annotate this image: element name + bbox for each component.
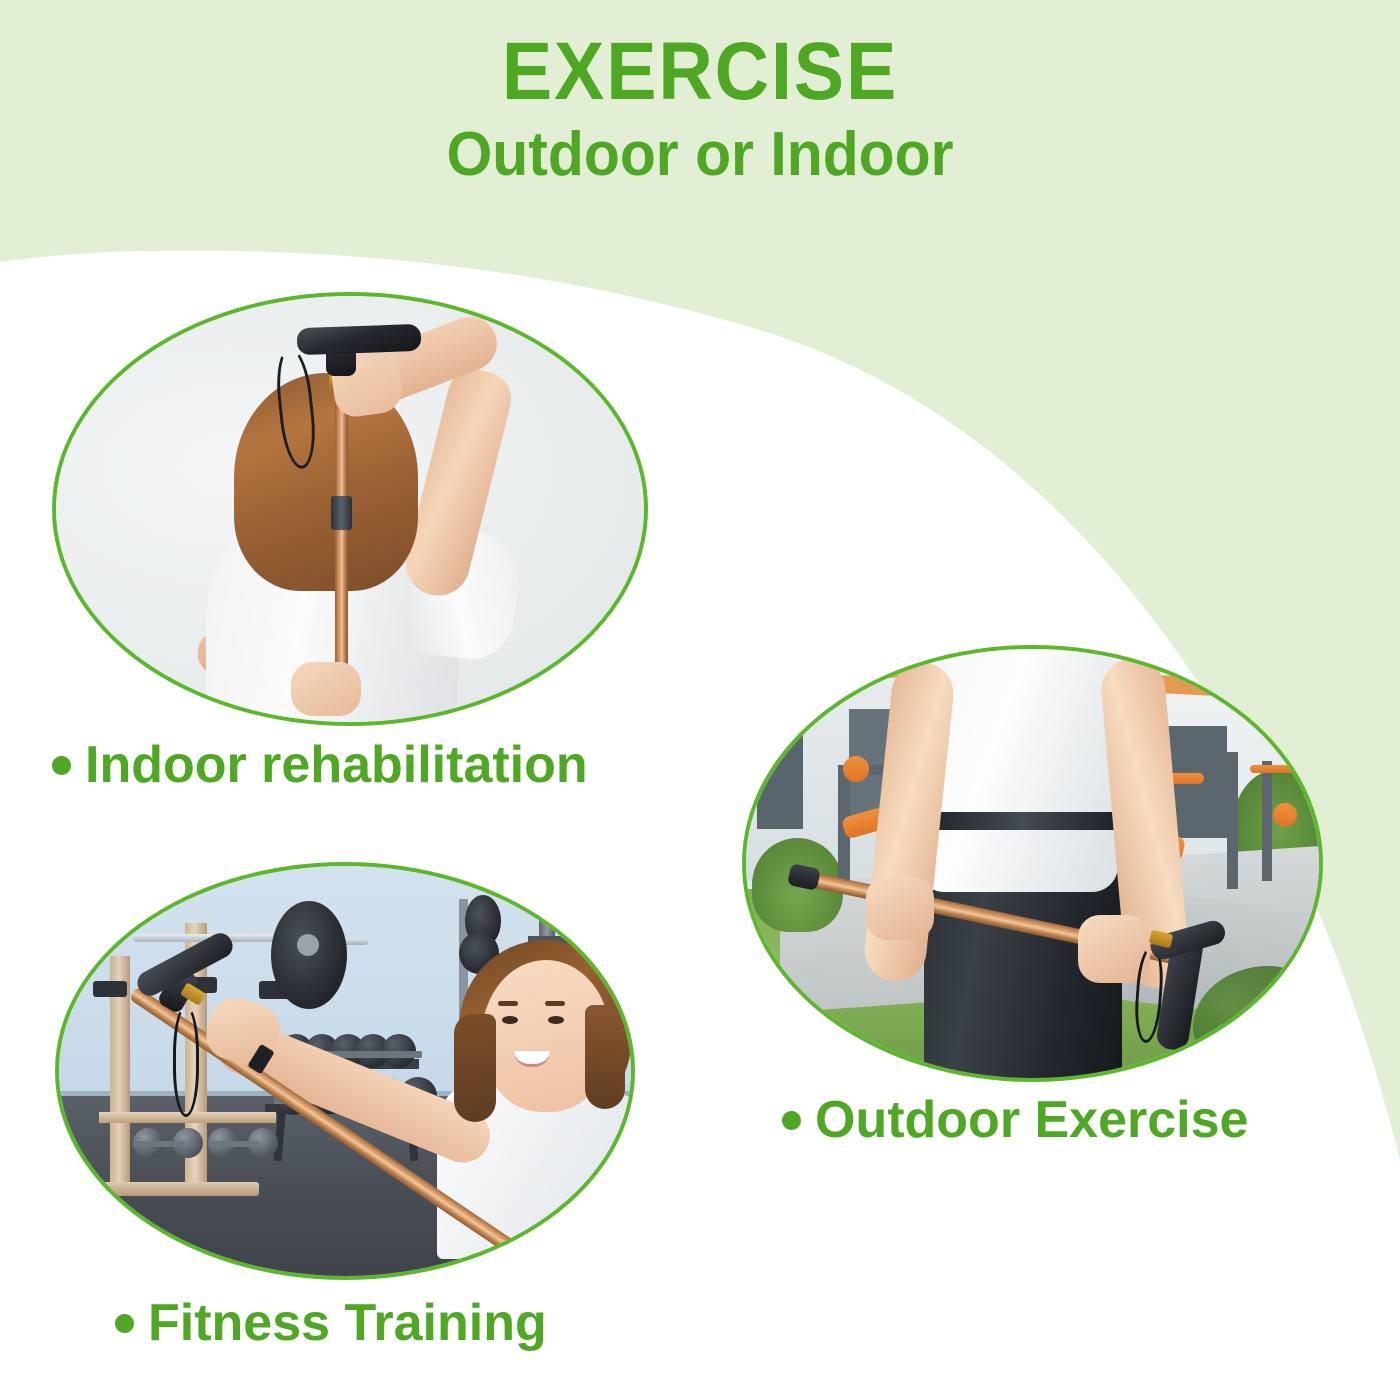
caption-fitness-training: Fitness Training <box>115 1293 547 1353</box>
lower-hand <box>291 662 361 716</box>
caption-label: Outdoor Exercise <box>815 1090 1248 1150</box>
scene-outdoor-exercise <box>746 649 1319 1078</box>
bullet-dot-icon <box>52 756 71 775</box>
eyebrow-left <box>498 1001 518 1006</box>
caption-outdoor-exercise: Outdoor Exercise <box>782 1090 1248 1150</box>
cane-handle-grip <box>297 324 422 355</box>
image-oval-fitness-training <box>55 862 635 1280</box>
rack-j-hook-1 <box>93 981 127 997</box>
bullet-dot-icon <box>115 1314 134 1333</box>
caption-indoor-rehabilitation: Indoor rehabilitation <box>52 735 588 795</box>
eye-left <box>502 1016 518 1024</box>
squat-rack-base <box>88 1182 260 1196</box>
floor-dumbbell-handle <box>208 1141 259 1147</box>
caption-label: Indoor rehabilitation <box>85 735 588 795</box>
header-block: EXERCISE Outdoor or Indoor <box>0 0 1400 187</box>
outdoor-gym-orange-bar <box>1250 765 1319 773</box>
waistband <box>924 812 1122 830</box>
eyebrow-right <box>545 1001 565 1006</box>
outdoor-gym-frame-post <box>1262 761 1272 881</box>
page-title: EXERCISE <box>56 30 1344 114</box>
hair-strand-right <box>585 1005 625 1109</box>
left-hand <box>866 876 934 940</box>
barbell-plate-hub <box>297 934 319 956</box>
eye-right <box>548 1016 564 1024</box>
page-subtitle: Outdoor or Indoor <box>35 122 1365 187</box>
cane-adjust-collar <box>331 496 352 530</box>
image-oval-outdoor-exercise <box>742 645 1323 1082</box>
floor-dumbbell-handle <box>133 1141 184 1147</box>
window-left <box>757 735 803 829</box>
caption-label: Fitness Training <box>148 1293 547 1353</box>
scene-indoor-rehabilitation <box>56 296 644 722</box>
infographic-canvas: EXERCISE Outdoor or Indoor <box>0 0 1400 1400</box>
image-oval-indoor-rehabilitation <box>52 292 648 726</box>
scene-fitness-training <box>59 866 631 1276</box>
cane-wrist-strap <box>173 1005 199 1117</box>
bullet-dot-icon <box>782 1111 801 1130</box>
hair-strand-left <box>454 1014 496 1122</box>
